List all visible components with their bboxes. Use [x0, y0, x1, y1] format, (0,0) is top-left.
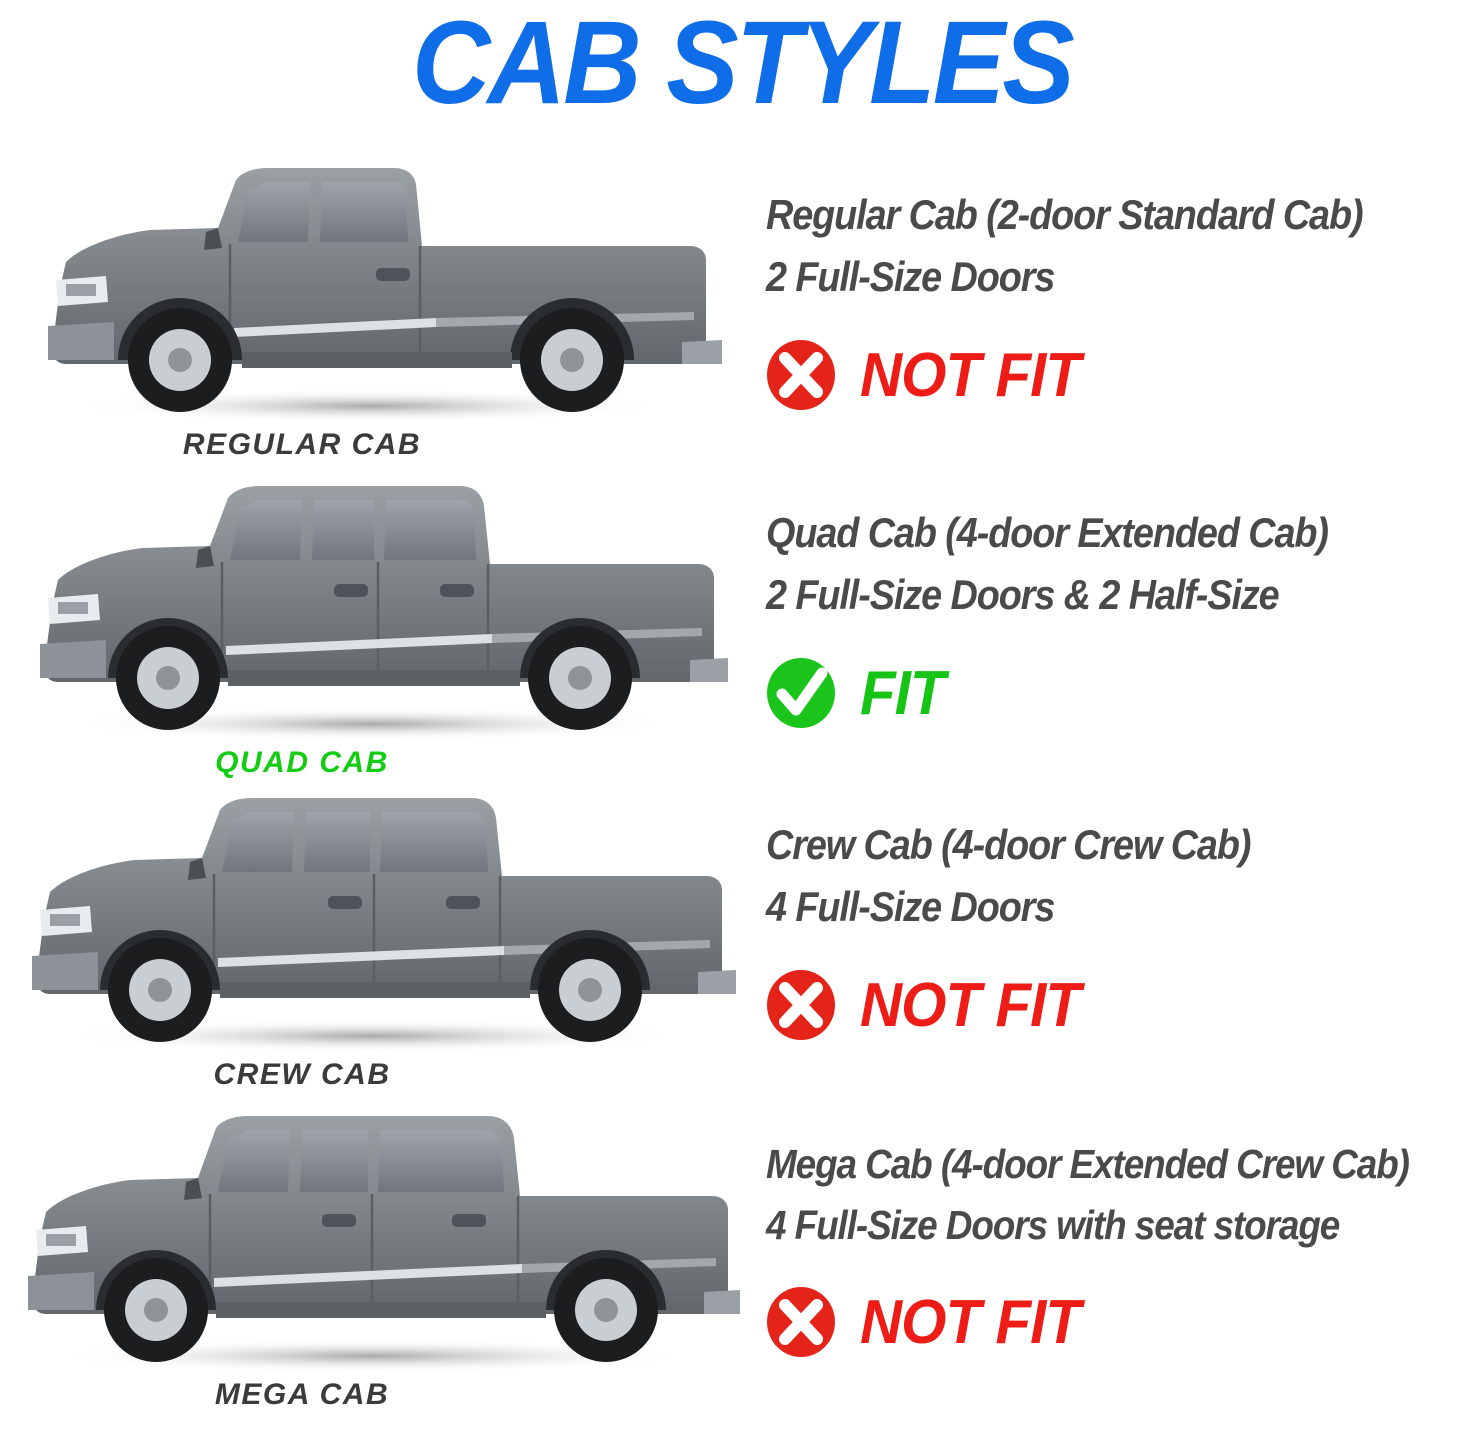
verdict-label: NOT FIT: [860, 1287, 1080, 1358]
fitment-verdict: NOT FIT: [766, 966, 1478, 1044]
truck-image-block: REGULAR CAB: [22, 160, 748, 480]
red-x-circle-icon: [766, 1286, 836, 1358]
truck-image-block: CREW CAB: [22, 790, 748, 1110]
pickup-truck-regular-cab-icon: [22, 160, 748, 428]
verdict-label: NOT FIT: [860, 340, 1080, 411]
truck-caption-label: CREW CAB: [22, 1058, 582, 1092]
cab-style-row-mega: MEGA CAB Mega Cab (4-door Extended Crew …: [0, 1110, 1484, 1429]
cab-styles-infographic: CAB STYLES: [0, 0, 1484, 1429]
cab-subtitle: 2 Full-Size Doors: [766, 246, 1407, 308]
cab-title: Mega Cab (4-door Extended Crew Cab): [766, 1134, 1407, 1195]
cab-style-row-quad: QUAD CAB Quad Cab (4-door Extended Cab) …: [0, 478, 1484, 798]
truck-caption-label: MEGA CAB: [22, 1378, 582, 1412]
green-check-circle-icon: [766, 657, 836, 729]
verdict-label: FIT: [860, 658, 945, 729]
pickup-truck-quad-cab-icon: [22, 478, 748, 746]
fitment-verdict: NOT FIT: [766, 336, 1478, 414]
verdict-label: NOT FIT: [860, 970, 1080, 1041]
cab-style-row-regular: REGULAR CAB Regular Cab (2-door Standard…: [0, 160, 1484, 480]
truck-caption-label: REGULAR CAB: [22, 428, 582, 462]
truck-caption-label: QUAD CAB: [22, 746, 582, 780]
cab-subtitle: 4 Full-Size Doors: [766, 876, 1407, 938]
red-x-circle-icon: [766, 339, 836, 411]
cab-description-block: Quad Cab (4-door Extended Cab) 2 Full-Si…: [766, 502, 1478, 732]
cab-description-block: Regular Cab (2-door Standard Cab) 2 Full…: [766, 184, 1478, 414]
page-title: CAB STYLES: [59, 0, 1424, 133]
cab-description-block: Crew Cab (4-door Crew Cab) 4 Full-Size D…: [766, 814, 1478, 1044]
truck-image-block: QUAD CAB: [22, 478, 748, 798]
truck-image-block: MEGA CAB: [22, 1110, 748, 1429]
cab-subtitle: 2 Full-Size Doors & 2 Half-Size: [766, 564, 1407, 626]
fitment-verdict: NOT FIT: [766, 1283, 1478, 1361]
cab-title: Regular Cab (2-door Standard Cab): [766, 184, 1407, 246]
pickup-truck-mega-cab-icon: [22, 1110, 748, 1378]
cab-title: Crew Cab (4-door Crew Cab): [766, 814, 1407, 876]
fitment-verdict: FIT: [766, 654, 1478, 732]
cab-style-row-crew: CREW CAB Crew Cab (4-door Crew Cab) 4 Fu…: [0, 790, 1484, 1110]
cab-title: Quad Cab (4-door Extended Cab): [766, 502, 1407, 564]
cab-subtitle: 4 Full-Size Doors with seat storage: [766, 1195, 1407, 1256]
cab-description-block: Mega Cab (4-door Extended Crew Cab) 4 Fu…: [766, 1134, 1478, 1361]
pickup-truck-crew-cab-icon: [22, 790, 748, 1058]
red-x-circle-icon: [766, 969, 836, 1041]
